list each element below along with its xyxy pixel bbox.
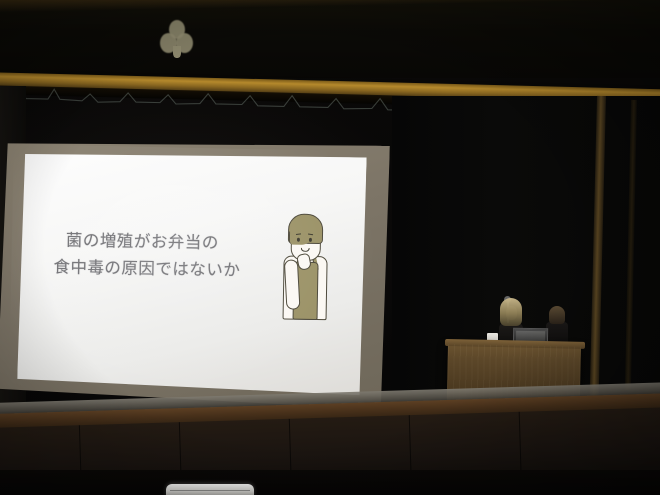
thinking-cook-illustration [274, 213, 334, 324]
projection-screen: 菌の増殖がお弁当の 食中毒の原因ではないか [0, 138, 392, 414]
presenter-hair [500, 298, 522, 326]
ceiling-glow [0, 0, 660, 12]
slide-content: 菌の増殖がお弁当の 食中毒の原因ではないか [17, 151, 366, 395]
orchestra-pit [0, 470, 660, 495]
slide-line-1: 菌の増殖がお弁当の [66, 228, 286, 259]
second-person-hair [549, 306, 565, 324]
projector-seam [170, 490, 250, 491]
trefoil-ornament-icon [160, 20, 194, 58]
illustration-eye-right [309, 238, 312, 242]
slide-line-2: 食中毒の原因ではないか [53, 254, 285, 285]
slide-text-block: 菌の増殖がお弁当の 食中毒の原因ではないか [65, 228, 286, 285]
auditorium-photo: 菌の増殖がお弁当の 食中毒の原因ではないか [0, 0, 660, 495]
ceiling-band [0, 0, 660, 78]
